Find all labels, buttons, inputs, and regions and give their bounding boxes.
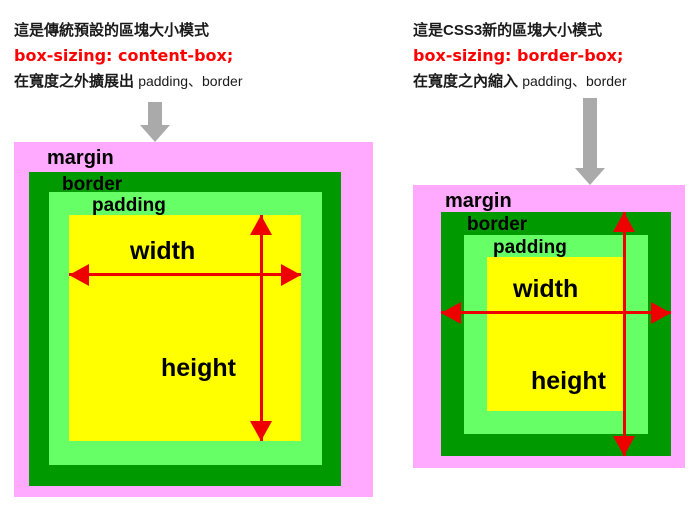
height-label-right: height xyxy=(531,367,606,396)
box-model-figure-border-box: margin border padding width height xyxy=(413,185,685,468)
caption-code-left: box-sizing: content-box; xyxy=(14,43,242,69)
caption-note-prefix-left: 在寬度之外擴展出 xyxy=(14,73,134,90)
caption-note-left: 在寬度之外擴展出 padding、border xyxy=(14,69,242,94)
height-arrow-head-up xyxy=(250,215,272,235)
down-arrow-icon xyxy=(140,125,170,142)
caption-note-prefix-right: 在寬度之內縮入 xyxy=(413,73,518,90)
height-arrow-head-down xyxy=(613,436,635,456)
flow-down-arrow-left xyxy=(140,102,170,142)
caption-note-terms-left: padding、border xyxy=(138,73,242,89)
box-model-figure-content-box: margin border padding width height xyxy=(14,142,373,497)
height-measure-left: height xyxy=(69,215,301,441)
padding-label-left: padding xyxy=(92,195,166,217)
height-arrow-head-up xyxy=(613,212,635,232)
caption-code-right: box-sizing: border-box; xyxy=(413,43,626,69)
caption-intro-left: 這是傳統預設的區塊大小模式 xyxy=(14,18,242,43)
height-arrow-head-down xyxy=(250,421,272,441)
margin-label-left: margin xyxy=(47,147,114,170)
down-arrow-icon xyxy=(575,168,605,185)
caption-border-box: 這是CSS3新的區塊大小模式 box-sizing: border-box; 在… xyxy=(413,18,626,94)
arrow-shaft xyxy=(583,98,597,169)
diagram-canvas: 這是傳統預設的區塊大小模式 box-sizing: content-box; 在… xyxy=(0,0,700,514)
height-measure-right: height xyxy=(441,212,671,456)
caption-intro-right: 這是CSS3新的區塊大小模式 xyxy=(413,18,626,43)
flow-down-arrow-right xyxy=(575,98,605,185)
height-label-left: height xyxy=(161,354,236,383)
height-measure-line xyxy=(623,212,626,456)
caption-note-right: 在寬度之內縮入 padding、border xyxy=(413,69,626,94)
height-measure-line xyxy=(260,215,263,441)
caption-note-terms-right: padding、border xyxy=(522,73,626,89)
arrow-shaft xyxy=(148,102,162,126)
margin-label-right: margin xyxy=(445,190,512,213)
caption-content-box: 這是傳統預設的區塊大小模式 box-sizing: content-box; 在… xyxy=(14,18,242,94)
